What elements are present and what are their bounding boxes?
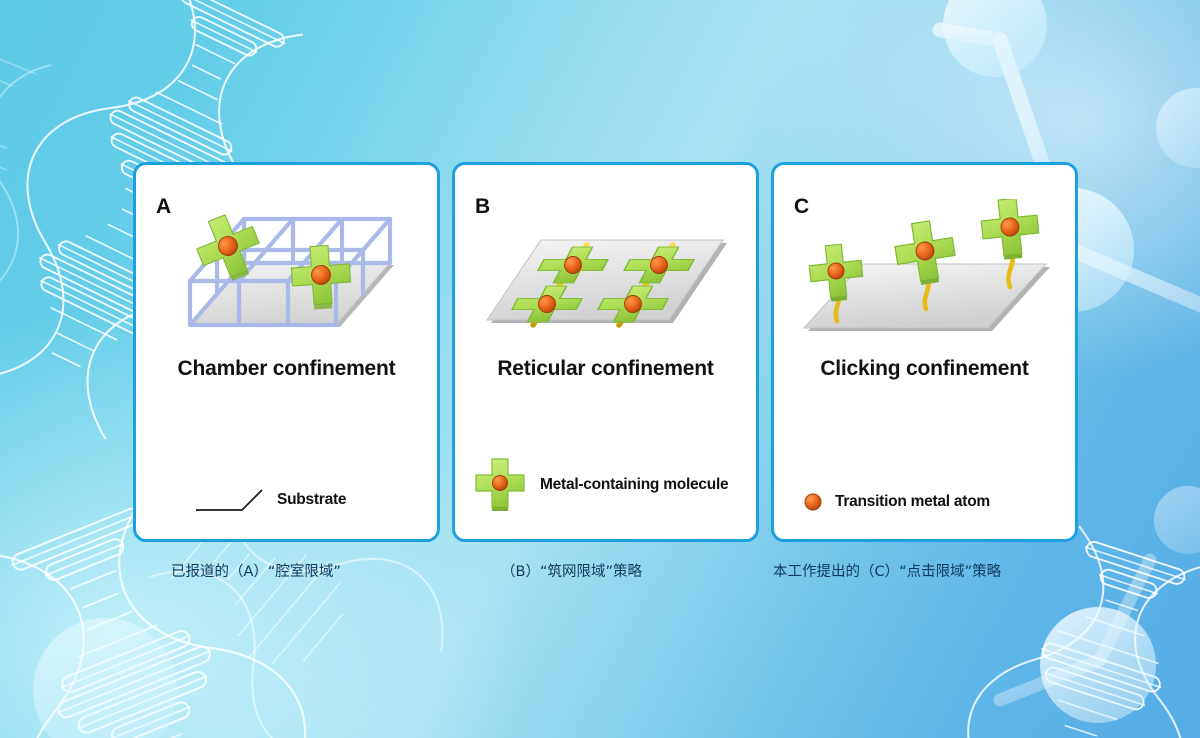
panel-chamber-confinement[interactable]: A xyxy=(133,162,440,542)
legend-label-metal-containing-molecule: Metal-containing molecule xyxy=(540,476,728,494)
panel-clicking-confinement[interactable]: C xyxy=(771,162,1078,542)
molecule-cross xyxy=(979,199,1041,262)
panel-title-c: Clicking confinement xyxy=(774,357,1075,381)
caption-panel-b: （B）“筑网限域”策略 xyxy=(501,560,642,581)
panel-title-a: Chamber confinement xyxy=(136,357,437,381)
legend-transition-metal-atom: Transition metal atom xyxy=(774,491,1075,513)
transition-metal-atom-icon xyxy=(802,491,824,513)
dna-helix-far-left xyxy=(0,13,86,320)
reticular-network-diagram xyxy=(455,199,756,349)
panel-title-b: Reticular confinement xyxy=(455,357,756,381)
clicking-tether-diagram xyxy=(774,199,1075,349)
panel-reticular-confinement[interactable]: B xyxy=(452,162,759,542)
molecule-sphere-bottom-left xyxy=(33,618,177,738)
caption-row: 已报道的（A）“腔室限域” （B）“筑网限域”策略 本工作提出的（C）“点击限域… xyxy=(133,560,1078,590)
caption-panel-c: 本工作提出的（C）“点击限域”策略 xyxy=(773,560,1001,581)
chamber-cage-diagram xyxy=(136,199,437,349)
caption-panel-a: 已报道的（A）“腔室限域” xyxy=(171,560,341,581)
legend-substrate: Substrate xyxy=(136,487,437,513)
dna-helix-bottom-right xyxy=(950,512,1200,738)
figure-canvas: A xyxy=(0,0,1200,738)
panel-row: A xyxy=(133,162,1078,542)
legend-label-substrate: Substrate xyxy=(277,491,346,509)
metal-containing-molecule-icon xyxy=(473,457,529,513)
legend-metal-containing-molecule: Metal-containing molecule xyxy=(455,457,756,513)
legend-label-transition-metal-atom: Transition metal atom xyxy=(835,493,990,511)
substrate-plane-icon xyxy=(194,487,266,513)
